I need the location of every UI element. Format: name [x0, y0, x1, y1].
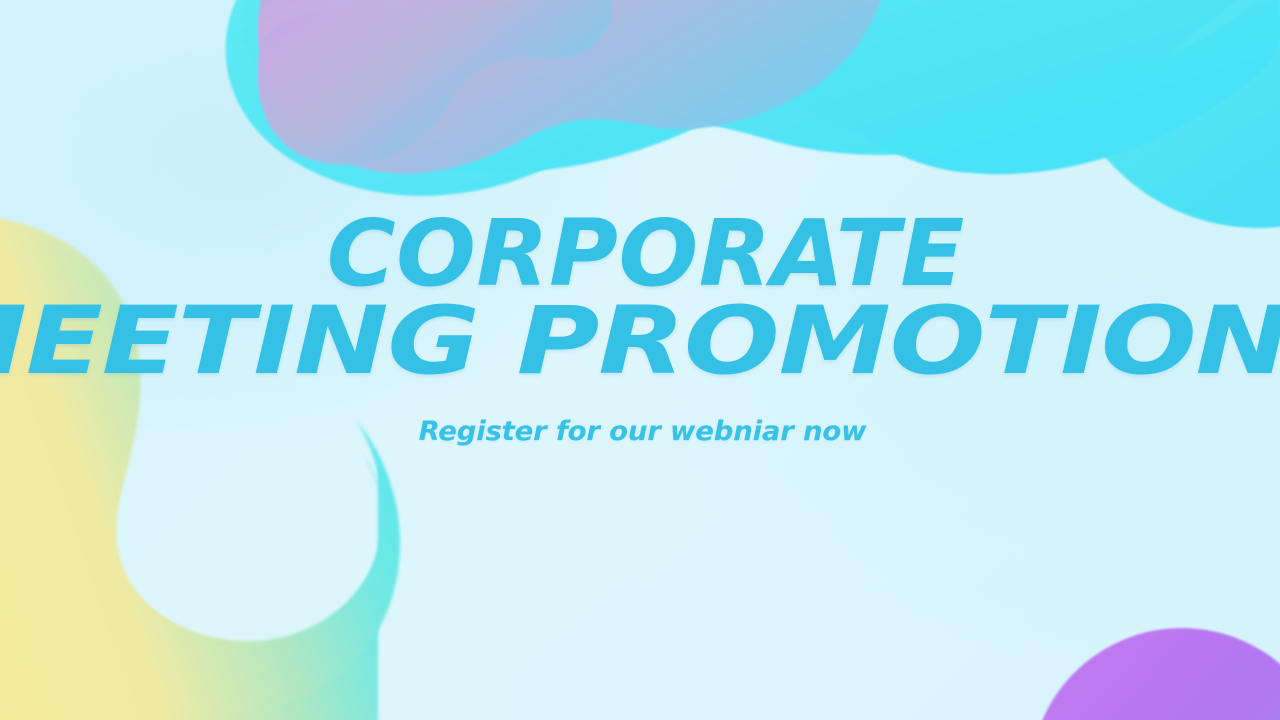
headline-line-2: MEETING PROMOTIONS: [0, 298, 1280, 386]
subheadline-cta: Register for our webniar now: [418, 416, 866, 447]
poster-text-block: CORPORATE MEETING PROMOTIONS Register fo…: [0, 0, 1280, 720]
promo-poster: CORPORATE MEETING PROMOTIONS Register fo…: [0, 0, 1280, 720]
headline-line-1: CORPORATE: [327, 211, 965, 297]
